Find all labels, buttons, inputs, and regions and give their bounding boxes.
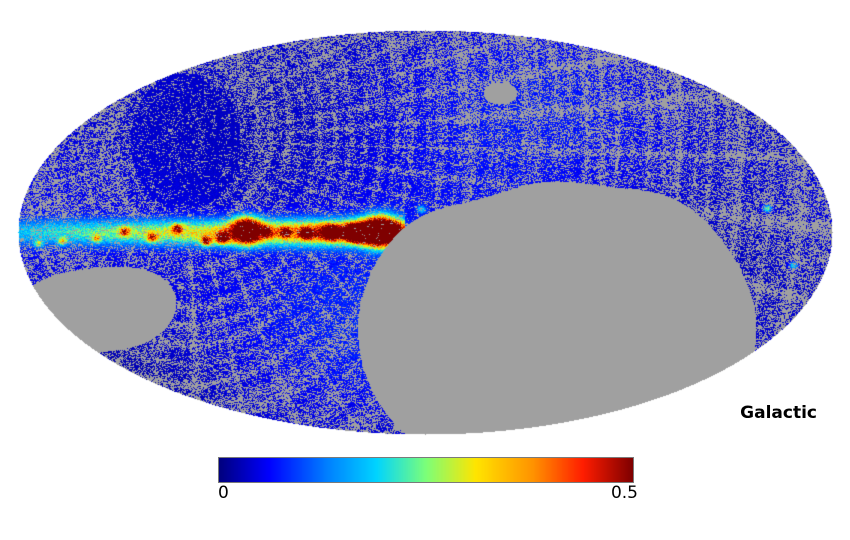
colorbar: [218, 457, 634, 483]
colorbar-gradient: [218, 457, 634, 483]
coordinate-system-label: Galactic: [740, 403, 817, 423]
colorbar-max-tick-label: 0.5: [598, 483, 638, 503]
sky-map-figure: I Stokes Galactic 0 0.5: [0, 0, 850, 540]
colorbar-min-tick-label: 0: [218, 483, 229, 503]
